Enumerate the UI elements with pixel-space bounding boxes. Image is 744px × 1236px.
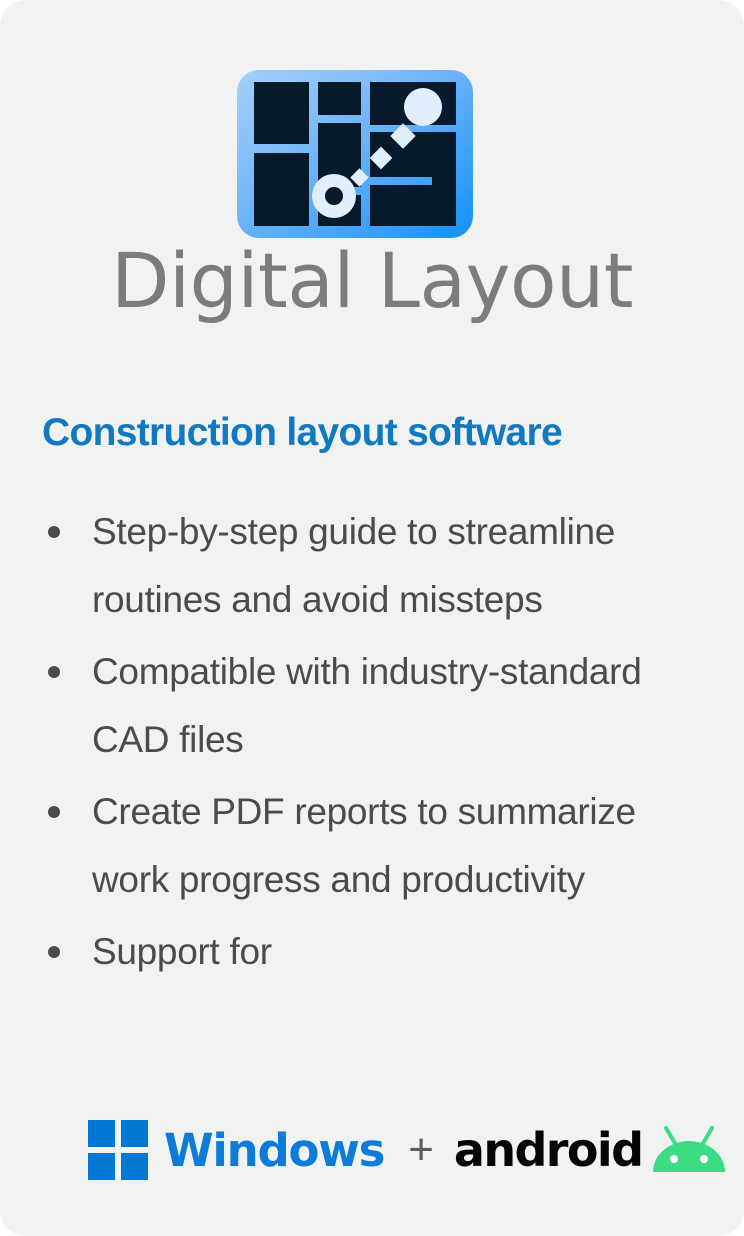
supported-platforms-row: Windows + android [88, 1120, 726, 1180]
android-label: android [454, 1127, 643, 1173]
floorplan-app-icon [237, 70, 473, 238]
feature-list: Step-by-step guide to streamline routine… [42, 498, 718, 990]
feature-text: Support for [92, 918, 718, 986]
feature-item: Support for [42, 918, 718, 986]
windows-label: Windows [164, 1128, 384, 1173]
feature-text: Create PDF reports to summarize work pro… [92, 778, 718, 914]
windows-logo-icon [88, 1120, 148, 1180]
bullet-icon [48, 526, 60, 538]
bullet-icon [48, 666, 60, 678]
feature-text: Step-by-step guide to streamline routine… [92, 498, 718, 634]
product-subtitle: Construction layout software [42, 412, 712, 455]
feature-item: Compatible with industry-standard CAD fi… [42, 638, 718, 774]
feature-item: Create PDF reports to summarize work pro… [42, 778, 718, 914]
app-promo-card: Digital Layout Construction layout softw… [0, 0, 744, 1236]
product-title: Digital Layout [0, 243, 744, 319]
android-robot-icon [652, 1126, 726, 1174]
bullet-icon [48, 946, 60, 958]
app-icon-container [237, 70, 473, 238]
bullet-icon [48, 806, 60, 818]
feature-item: Step-by-step guide to streamline routine… [42, 498, 718, 634]
feature-text: Compatible with industry-standard CAD fi… [92, 638, 718, 774]
platform-separator: + [408, 1128, 434, 1172]
